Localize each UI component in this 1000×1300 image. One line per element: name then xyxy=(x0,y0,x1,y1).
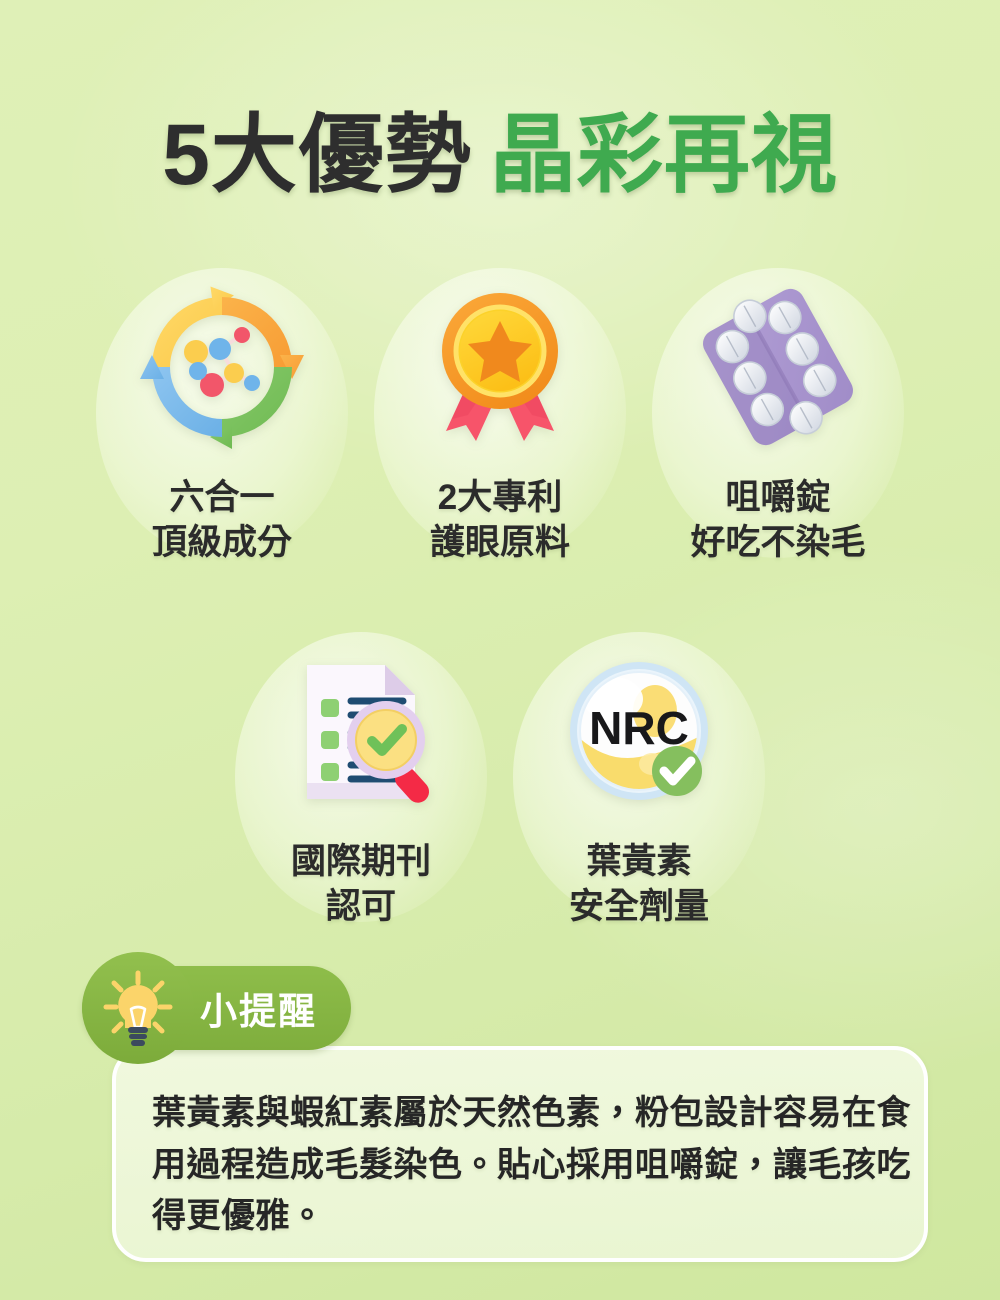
tip-badge: 小提醒 xyxy=(82,966,351,1050)
feature-row-2: 國際期刊 認可 xyxy=(0,636,1000,930)
feature-item-two-patents[interactable]: 2大專利 護眼原料 xyxy=(361,272,639,566)
promo-page: 5大優勢晶彩再視 xyxy=(0,0,1000,1300)
feature-label: 國際期刊 認可 xyxy=(291,840,431,930)
tip-body-text: 葉黃素與蝦紅素屬於天然色素，粉包設計容易在食用過程造成毛髮染色。貼心採用咀嚼錠，… xyxy=(152,1088,912,1243)
feature-label: 2大專利 護眼原料 xyxy=(430,476,570,566)
title-main-text: 5大優勢 xyxy=(162,107,472,203)
recycle-molecule-icon xyxy=(127,272,317,462)
feature-label-line1: 葉黃素 xyxy=(586,842,691,881)
tip-badge-label: 小提醒 xyxy=(200,981,317,1035)
feature-label-line2: 好吃不染毛 xyxy=(690,521,865,566)
feature-row-1: 六合一 頂級成分 xyxy=(0,272,1000,566)
feature-label-line1: 六合一 xyxy=(169,478,274,517)
feature-label-line1: 咀嚼錠 xyxy=(725,478,830,517)
feature-label: 咀嚼錠 好吃不染毛 xyxy=(690,476,865,566)
feature-label-line2: 護眼原料 xyxy=(430,521,570,566)
medal-ribbon-icon xyxy=(405,272,595,462)
feature-label-line2: 認可 xyxy=(291,885,431,930)
feature-item-lutein-safe-dose[interactable]: NRC 葉黃素 安全劑量 xyxy=(500,636,778,930)
feature-label-line1: 2大專利 xyxy=(438,478,562,517)
feature-item-journal-approved[interactable]: 國際期刊 認可 xyxy=(222,636,500,930)
feature-item-chewable-tablet[interactable]: 咀嚼錠 好吃不染毛 xyxy=(639,272,917,566)
feature-item-six-in-one[interactable]: 六合一 頂級成分 xyxy=(83,272,361,566)
nrc-badge-check-icon: NRC xyxy=(544,636,734,826)
document-magnifier-check-icon xyxy=(266,636,456,826)
page-title: 5大優勢晶彩再視 xyxy=(0,112,1000,198)
blister-pack-icon xyxy=(683,272,873,462)
title-accent-text: 晶彩再視 xyxy=(490,107,838,203)
lightbulb-icon xyxy=(82,952,194,1064)
feature-label-line1: 國際期刊 xyxy=(291,842,431,881)
feature-label: 葉黃素 安全劑量 xyxy=(569,840,709,930)
feature-label: 六合一 頂級成分 xyxy=(152,476,292,566)
feature-label-line2: 頂級成分 xyxy=(152,521,292,566)
feature-label-line2: 安全劑量 xyxy=(569,885,709,930)
